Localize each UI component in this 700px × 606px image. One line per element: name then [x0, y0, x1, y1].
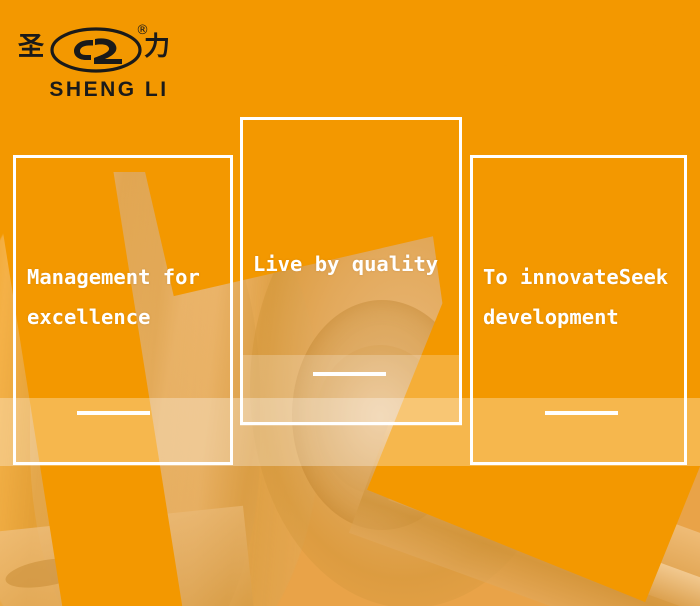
value-panel-divider — [313, 372, 386, 376]
logo-wordmark: SHENG LI — [24, 78, 194, 102]
brand-logo: 圣 ® 力 SHENG LI — [18, 22, 188, 102]
logo-emblem-row: 圣 ® 力 — [18, 22, 188, 78]
logo-hanzi-sheng: 圣 — [18, 34, 44, 60]
value-panel-text: Management for excellence — [27, 258, 226, 338]
value-panel-innovation: To innovateSeek development — [470, 155, 687, 465]
value-panel-divider — [545, 411, 618, 415]
company-values-banner: 圣 ® 力 SHENG LI Management for excellence… — [0, 0, 700, 606]
logo-hanzi-li: 力 — [144, 34, 170, 60]
value-panel-divider — [77, 411, 150, 415]
value-panel-text: Live by quality — [253, 245, 455, 285]
logo-oval-monogram-icon — [50, 26, 142, 74]
value-panel-management: Management for excellence — [13, 155, 233, 465]
value-panel-text: To innovateSeek development — [483, 258, 680, 338]
value-panel-quality: Live by quality — [240, 117, 462, 425]
